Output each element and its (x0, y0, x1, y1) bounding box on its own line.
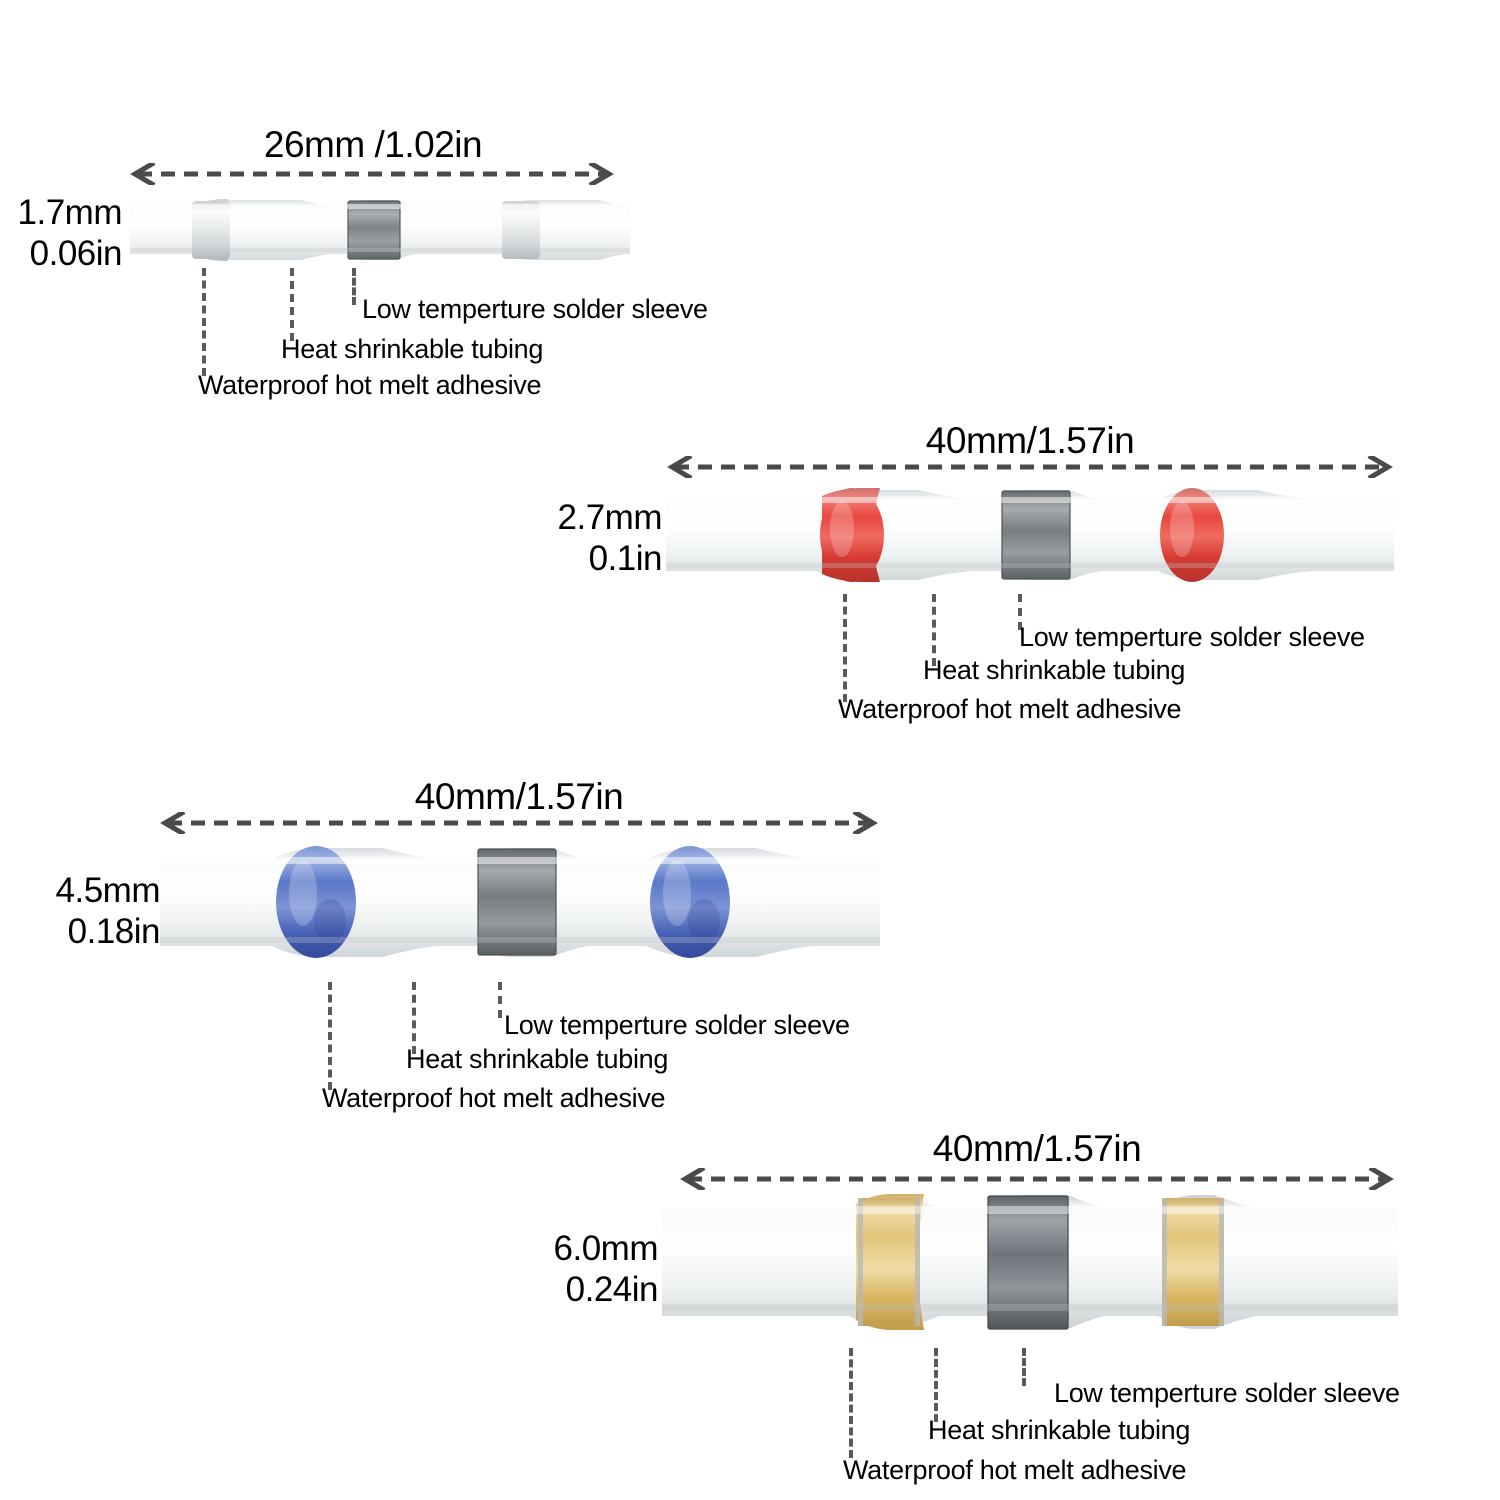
callout-adhesive-red: Waterproof hot melt adhesive (838, 694, 1181, 725)
leader-line-heatshrink-white (290, 268, 294, 341)
leader-line-adhesive-white (202, 268, 206, 376)
diameter-mm-red: 2.7mm (440, 497, 662, 538)
callout-heat-shrink-yellow: Heat shrinkable tubing (928, 1415, 1190, 1446)
diameter-mm-white: 1.7mm (0, 192, 122, 233)
diameter-in-white: 0.06in (0, 233, 122, 274)
callout-solder-sleeve-yellow: Low temperture solder sleeve (1054, 1378, 1400, 1409)
connector-body-yellow (662, 1190, 1398, 1333)
callout-heat-shrink-white: Heat shrinkable tubing (281, 334, 543, 365)
leader-line-adhesive-yellow (849, 1348, 853, 1458)
diameter-mm-blue: 4.5mm (0, 870, 160, 911)
diameter-in-red: 0.1in (440, 538, 662, 579)
connector-body-red (666, 487, 1394, 583)
length-label-yellow: 40mm/1.57in (678, 1128, 1396, 1170)
diameter-label-yellow: 6.0mm 0.24in (440, 1228, 658, 1311)
diameter-label-white: 1.7mm 0.06in (0, 192, 122, 275)
leader-line-soldersleeve-blue (498, 982, 502, 1018)
connector-body-blue (160, 845, 880, 960)
leader-line-adhesive-blue (328, 982, 332, 1090)
connector-body-white (130, 196, 630, 264)
callout-heat-shrink-blue: Heat shrinkable tubing (406, 1044, 668, 1075)
leader-line-heatshrink-yellow (934, 1348, 938, 1422)
length-label-white: 26mm /1.02in (128, 124, 618, 166)
diameter-label-red: 2.7mm 0.1in (440, 497, 662, 580)
callout-solder-sleeve-white: Low temperture solder sleeve (362, 294, 708, 325)
dimension-arrow-red (663, 456, 1397, 478)
leader-line-adhesive-red (843, 594, 847, 702)
callout-adhesive-yellow: Waterproof hot melt adhesive (843, 1455, 1186, 1486)
dimension-arrow-white (126, 163, 618, 185)
diameter-in-yellow: 0.24in (440, 1269, 658, 1310)
leader-line-soldersleeve-white (352, 268, 356, 305)
callout-solder-sleeve-red: Low temperture solder sleeve (1019, 622, 1365, 653)
diameter-mm-yellow: 6.0mm (440, 1228, 658, 1269)
dimension-arrow-yellow (676, 1168, 1398, 1190)
callout-adhesive-blue: Waterproof hot melt adhesive (322, 1083, 665, 1114)
leader-line-soldersleeve-yellow (1022, 1348, 1026, 1386)
diameter-label-blue: 4.5mm 0.18in (0, 870, 160, 953)
dimension-arrow-blue (156, 812, 882, 834)
callout-heat-shrink-red: Heat shrinkable tubing (923, 655, 1185, 686)
callout-solder-sleeve-blue: Low temperture solder sleeve (504, 1010, 850, 1041)
diameter-in-blue: 0.18in (0, 911, 160, 952)
callout-adhesive-white: Waterproof hot melt adhesive (198, 370, 541, 401)
